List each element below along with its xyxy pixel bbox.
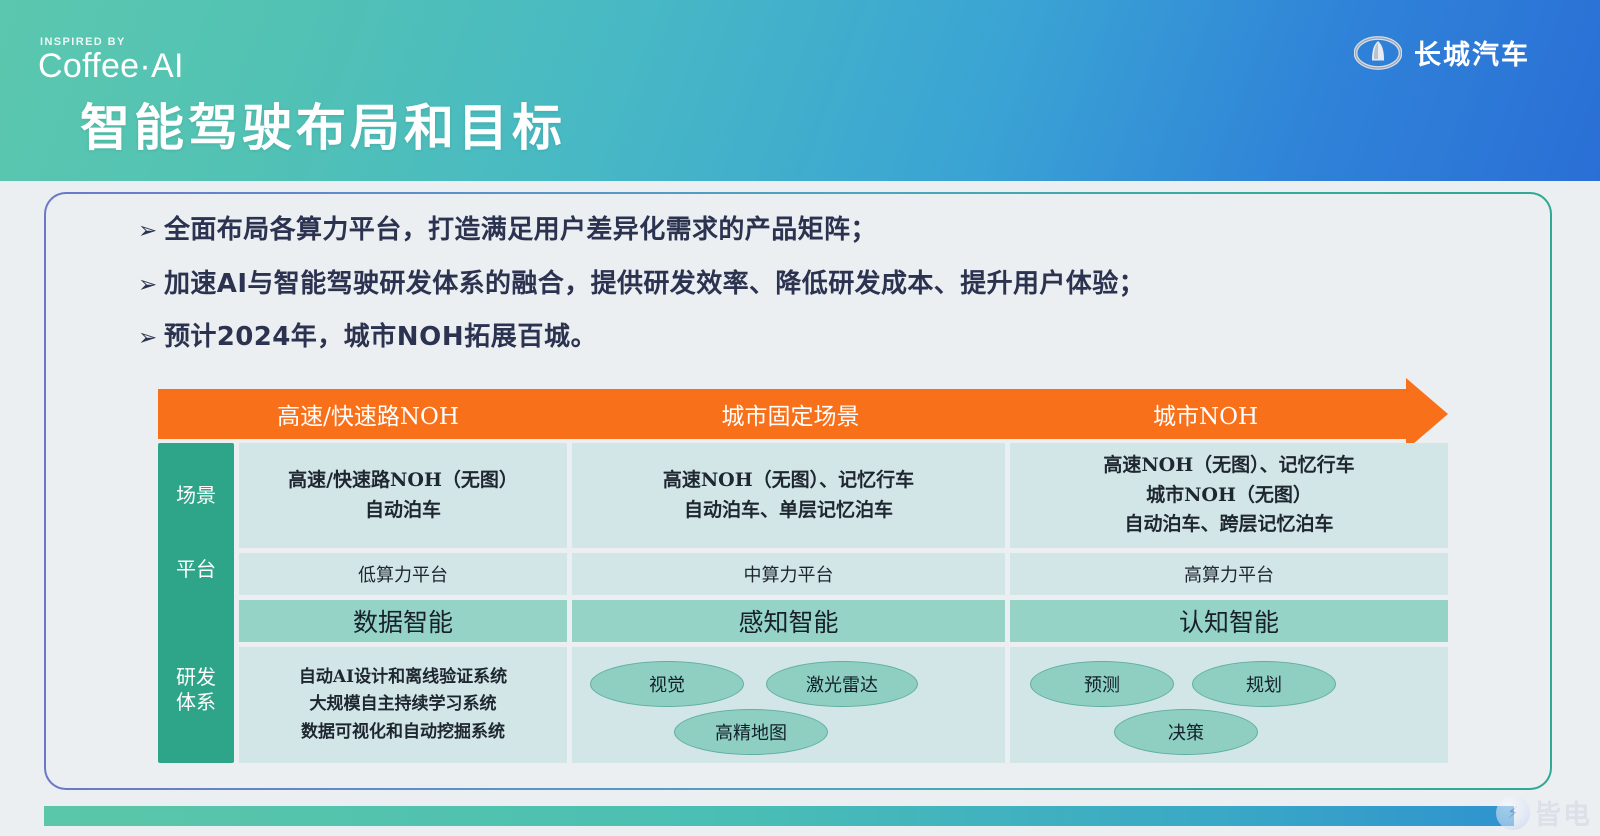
list-item: ➢ 预计2024年，城市NOH拓展百城。 [138, 323, 1520, 352]
table-cell: 中算力平台 [572, 553, 1005, 595]
cell-line: 高速/快速路NOH（无图） [288, 466, 518, 495]
pill-badge: 预测 [1030, 661, 1174, 707]
pill-group: 预测 规划 决策 [1010, 647, 1448, 763]
cell-line: 城市NOH（无图） [1146, 481, 1312, 510]
roadmap-matrix: 高速/快速路NOH 城市固定场景 城市NOH 场景 平台 研发体系 高速/快速路… [158, 389, 1448, 763]
table-cell: 高速/快速路NOH（无图） 自动泊车 [239, 443, 567, 548]
watermark-text: 皆电 [1534, 793, 1592, 832]
watermark: ⚡ 皆电 [1496, 793, 1592, 832]
row-label-column: 场景 平台 研发体系 [158, 443, 234, 763]
row-label-spacer [158, 590, 234, 632]
gwm-oval-emblem-icon [1354, 36, 1402, 70]
stage-header-3: 城市NOH [1003, 397, 1408, 431]
bullet-list: ➢ 全面布局各算力平台，打造满足用户差异化需求的产品矩阵； ➢ 加速AI与智能驾… [138, 216, 1520, 377]
bullet-text: 全面布局各算力平台，打造满足用户差异化需求的产品矩阵； [164, 216, 877, 245]
content-card-border: ➢ 全面布局各算力平台，打造满足用户差异化需求的产品矩阵； ➢ 加速AI与智能驾… [44, 192, 1552, 790]
table-cell: 预测 规划 决策 [1010, 647, 1448, 763]
intelligence-cell: 数据智能 [239, 600, 567, 642]
row-label-rd: 研发体系 [158, 632, 234, 748]
table-cell: 高算力平台 [1010, 553, 1448, 595]
cell-line: 数据可视化和自动挖掘系统 [301, 719, 505, 746]
stage-arrow-header: 高速/快速路NOH 城市固定场景 城市NOH [158, 389, 1448, 439]
content-card: ➢ 全面布局各算力平台，打造满足用户差异化需求的产品矩阵； ➢ 加速AI与智能驾… [46, 194, 1550, 788]
bullet-text-emphasis: 城市NOH拓展百城。 [344, 322, 598, 352]
bullet-arrow-icon: ➢ [138, 274, 164, 297]
bullet-text-prefix: 预计2024年， [164, 322, 344, 352]
matrix-grid: 高速/快速路NOH（无图） 自动泊车 高速NOH（无图）、记忆行车 自动泊车、单… [239, 443, 1448, 763]
table-row-rd: 自动AI设计和离线验证系统 大规模自主持续学习系统 数据可视化和自动挖掘系统 视… [239, 647, 1448, 763]
stage-header-2: 城市固定场景 [578, 397, 1003, 431]
matrix-table: 场景 平台 研发体系 高速/快速路NOH（无图） 自动泊车 高速NOH（无图）、… [158, 443, 1448, 763]
table-cell: 高速NOH（无图）、记忆行车 自动泊车、单层记忆泊车 [572, 443, 1005, 548]
arrow-head-icon [1406, 378, 1448, 450]
row-label-scene: 场景 [158, 443, 234, 548]
slide-header-band: INSPIRED BY Coffee·AI 智能驾驶布局和目标 长城汽车 [0, 0, 1600, 181]
table-cell: 视觉 激光雷达 高精地图 [572, 647, 1005, 763]
gwm-logo: 长城汽车 [1354, 33, 1530, 72]
cell-line: 高速NOH（无图）、记忆行车 [1103, 451, 1354, 480]
table-row-scene: 高速/快速路NOH（无图） 自动泊车 高速NOH（无图）、记忆行车 自动泊车、单… [239, 443, 1448, 548]
pill-badge: 激光雷达 [766, 661, 918, 707]
list-item: ➢ 加速AI与智能驾驶研发体系的融合，提供研发效率、降低研发成本、提升用户体验； [138, 270, 1520, 299]
intelligence-cell: 认知智能 [1010, 600, 1448, 642]
table-row-intelligence: 数据智能 感知智能 认知智能 [239, 600, 1448, 642]
stage-header-1: 高速/快速路NOH [158, 397, 578, 431]
gwm-logo-text: 长城汽车 [1414, 33, 1530, 72]
table-cell: 自动AI设计和离线验证系统 大规模自主持续学习系统 数据可视化和自动挖掘系统 [239, 647, 567, 763]
page-title: 智能驾驶布局和目标 [80, 88, 566, 160]
pill-group: 视觉 激光雷达 高精地图 [572, 647, 1005, 763]
bullet-arrow-icon: ➢ [138, 220, 164, 243]
table-cell: 高速NOH（无图）、记忆行车 城市NOH（无图） 自动泊车、跨层记忆泊车 [1010, 443, 1448, 548]
pill-badge: 决策 [1114, 709, 1258, 755]
table-row-platform: 低算力平台 中算力平台 高算力平台 [239, 553, 1448, 595]
cell-line: 自动泊车、单层记忆泊车 [684, 496, 893, 525]
cell-line: 高速NOH（无图）、记忆行车 [663, 466, 914, 495]
bullet-arrow-icon: ➢ [138, 327, 164, 350]
cell-line: 自动泊车、跨层记忆泊车 [1124, 510, 1333, 539]
pill-badge: 高精地图 [674, 709, 828, 755]
footer-accent-bar [44, 806, 1514, 826]
cell-line: 自动泊车 [365, 496, 441, 525]
intelligence-cell: 感知智能 [572, 600, 1005, 642]
pill-badge: 规划 [1192, 661, 1336, 707]
row-label-platform: 平台 [158, 548, 234, 590]
bullet-text: 加速AI与智能驾驶研发体系的融合，提供研发效率、降低研发成本、提升用户体验； [164, 270, 1145, 299]
cell-line: 自动AI设计和离线验证系统 [299, 664, 507, 691]
coffee-ai-brand: Coffee·AI [38, 47, 184, 86]
table-cell: 低算力平台 [239, 553, 567, 595]
pill-badge: 视觉 [590, 661, 744, 707]
stage-label-group: 高速/快速路NOH 城市固定场景 城市NOH [158, 389, 1408, 439]
circle-logo-icon: ⚡ [1496, 796, 1530, 830]
cell-line: 大规模自主持续学习系统 [310, 691, 497, 718]
list-item: ➢ 全面布局各算力平台，打造满足用户差异化需求的产品矩阵； [138, 216, 1520, 245]
bullet-text: 预计2024年，城市NOH拓展百城。 [164, 323, 597, 352]
